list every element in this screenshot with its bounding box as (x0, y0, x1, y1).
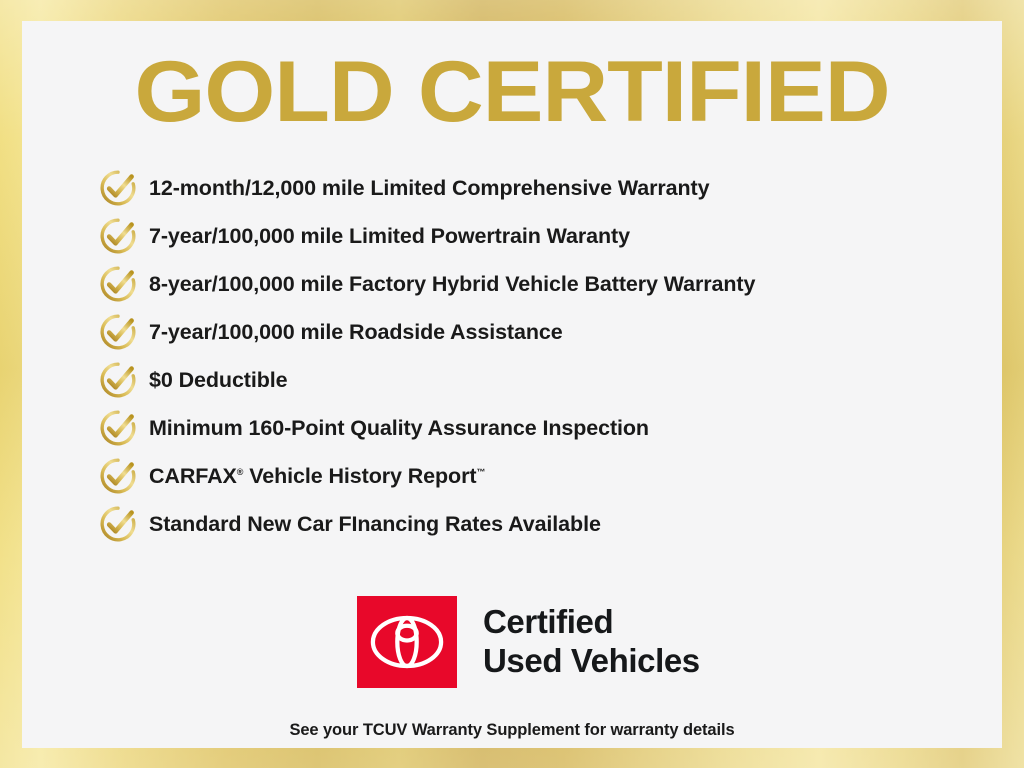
gold-check-circle-icon (97, 311, 139, 353)
carfax-report-label: Vehicle History Report (243, 464, 476, 488)
gold-check-circle-icon (97, 359, 139, 401)
benefits-list: 12-month/12,000 mile Limited Comprehensi… (97, 164, 987, 548)
lockup-text: Certified Used Vehicles (483, 603, 700, 681)
warranty-disclaimer: See your TCUV Warranty Supplement for wa… (22, 721, 1002, 740)
benefit-label: $0 Deductible (149, 368, 288, 393)
trademark-mark: ™ (476, 466, 485, 476)
benefit-label: Minimum 160-Point Quality Assurance Insp… (149, 416, 649, 441)
gold-certified-poster: GOLD CERTIFIED (0, 0, 1024, 768)
list-item: 12-month/12,000 mile Limited Comprehensi… (97, 164, 987, 212)
benefit-label: 8-year/100,000 mile Factory Hybrid Vehic… (149, 272, 755, 297)
gold-check-circle-icon (97, 503, 139, 545)
lockup-line-1: Certified (483, 603, 700, 642)
poster-card: GOLD CERTIFIED (22, 21, 1002, 748)
list-item: Minimum 160-Point Quality Assurance Insp… (97, 404, 987, 452)
list-item: Standard New Car FInancing Rates Availab… (97, 500, 987, 548)
benefit-label-carfax: CARFAX® Vehicle History Report™ (149, 464, 485, 489)
benefit-label: 12-month/12,000 mile Limited Comprehensi… (149, 176, 709, 201)
list-item: 7-year/100,000 mile Limited Powertrain W… (97, 212, 987, 260)
gold-check-circle-icon (97, 215, 139, 257)
list-item: 8-year/100,000 mile Factory Hybrid Vehic… (97, 260, 987, 308)
gold-check-circle-icon (97, 455, 139, 497)
lockup-line-2: Used Vehicles (483, 642, 700, 681)
gold-check-circle-icon (97, 263, 139, 305)
toyota-certified-used-vehicles-lockup: Certified Used Vehicles (357, 596, 700, 688)
benefit-label: Standard New Car FInancing Rates Availab… (149, 512, 601, 537)
carfax-wordmark: CARFAX (149, 464, 237, 488)
gold-check-circle-icon (97, 407, 139, 449)
list-item: CARFAX® Vehicle History Report™ (97, 452, 987, 500)
list-item: $0 Deductible (97, 356, 987, 404)
benefit-label: 7-year/100,000 mile Roadside Assistance (149, 320, 563, 345)
list-item: 7-year/100,000 mile Roadside Assistance (97, 308, 987, 356)
toyota-emblem-icon (357, 596, 457, 688)
benefit-label: 7-year/100,000 mile Limited Powertrain W… (149, 224, 630, 249)
gold-check-circle-icon (97, 167, 139, 209)
page-title: GOLD CERTIFIED (0, 49, 1024, 135)
